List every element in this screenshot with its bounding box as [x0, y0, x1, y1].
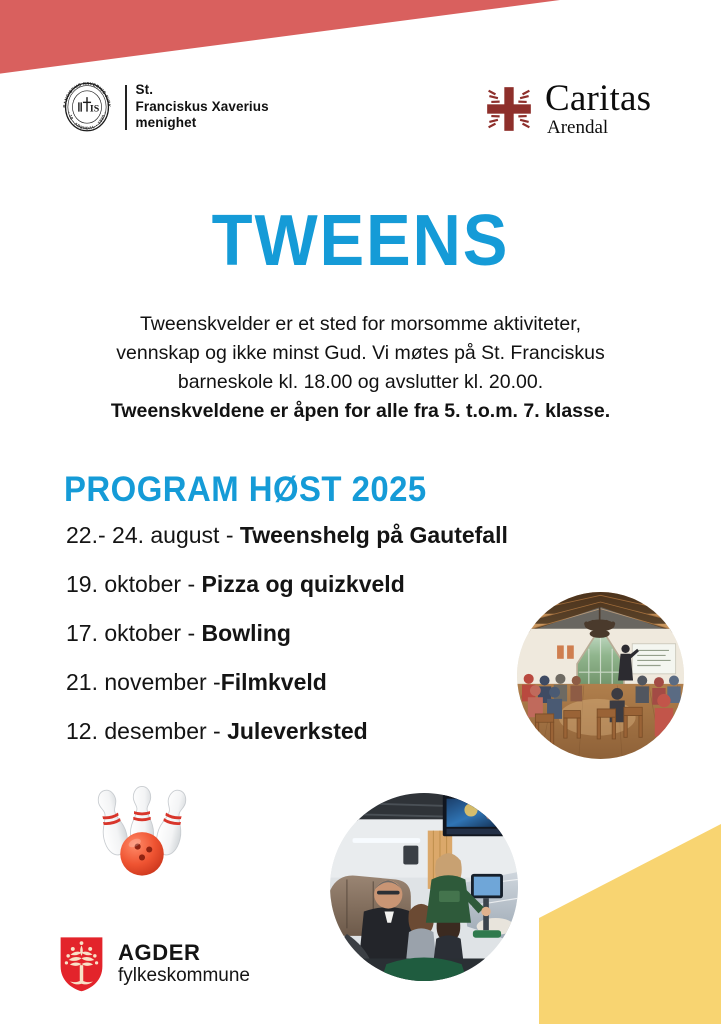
program-item-date: 21. november	[66, 669, 207, 695]
program-item-event: Juleverksted	[227, 718, 368, 744]
agder-subtitle: fylkeskommune	[118, 965, 250, 987]
svg-text:IS: IS	[90, 104, 100, 115]
bottom-right-yellow-wedge	[539, 824, 721, 1024]
intro-line-3: barneskole kl. 18.00 og avslutter kl. 20…	[178, 371, 543, 393]
bowling-pins-icon	[84, 782, 200, 880]
program-heading: PROGRAM HØST 2025	[64, 470, 427, 510]
parish-logo: FRANCISKUS XAVERIUS KIRKE · 18 · ARENDAL…	[58, 78, 269, 136]
program-item-separator: -	[181, 571, 201, 597]
program-item-event: Filmkveld	[221, 669, 327, 695]
parish-divider	[125, 85, 127, 130]
program-item-date: 17. oktober	[66, 620, 181, 646]
top-left-red-wedge	[0, 0, 560, 80]
intro-line-4-emphasis: Tweenskveldene er åpen for alle fra 5. t…	[111, 400, 610, 422]
program-item-separator: -	[207, 669, 221, 695]
program-item-date: 19. oktober	[66, 571, 181, 597]
svg-text:· 18 · ARENDAL · 1890 ·: · 18 · ARENDAL · 1890 ·	[67, 111, 107, 130]
parish-seal-icon: FRANCISKUS XAVERIUS KIRKE · 18 · ARENDAL…	[58, 78, 116, 136]
agder-name: AGDER	[118, 941, 250, 965]
program-item-separator: -	[181, 620, 201, 646]
parish-name: St. Franciskus Xaverius menighet	[136, 82, 269, 131]
program-item: 22.- 24. august - Tweenshelg på Gautefal…	[66, 524, 626, 547]
poster-canvas: FRANCISKUS XAVERIUS KIRKE · 18 · ARENDAL…	[0, 0, 721, 1024]
program-item-date: 22.- 24. august	[66, 522, 219, 548]
agder-wordmark: AGDER fylkeskommune	[118, 941, 250, 987]
program-item-separator: -	[219, 522, 239, 548]
caritas-name: Caritas	[545, 80, 651, 117]
bowling-pins-art	[84, 782, 200, 880]
page-title: TWEENS	[25, 205, 696, 277]
bowling-group-photo-art	[330, 793, 518, 981]
intro-line-1: Tweenskvelder er et sted for morsomme ak…	[140, 313, 581, 335]
agder-shield-icon	[58, 935, 105, 993]
program-item-date: 12. desember	[66, 718, 207, 744]
program-item: 19. oktober - Pizza og quizkveld	[66, 573, 626, 596]
header-logos: FRANCISKUS XAVERIUS KIRKE · 18 · ARENDAL…	[0, 78, 721, 142]
church-hall-photo	[517, 592, 684, 759]
bowling-group-photo	[330, 793, 518, 981]
agder-logo: AGDER fylkeskommune	[58, 935, 250, 993]
program-item-separator: -	[207, 718, 227, 744]
intro-line-2: vennskap og ikke minst Gud. Vi møtes på …	[116, 342, 604, 364]
program-item-event: Tweenshelg på Gautefall	[240, 522, 508, 548]
program-item-event: Bowling	[202, 620, 291, 646]
caritas-logo: Caritas Arendal	[483, 80, 651, 137]
caritas-wordmark: Caritas Arendal	[545, 80, 651, 137]
caritas-cross-icon	[483, 83, 535, 135]
intro-paragraph: Tweenskvelder er et sted for morsomme ak…	[60, 310, 661, 425]
program-item-event: Pizza og quizkveld	[202, 571, 405, 597]
church-hall-photo-art	[517, 592, 684, 759]
caritas-subtitle: Arendal	[547, 118, 651, 137]
svg-text:FRANCISKUS XAVERIUS KIRKE: FRANCISKUS XAVERIUS KIRKE	[58, 78, 112, 108]
